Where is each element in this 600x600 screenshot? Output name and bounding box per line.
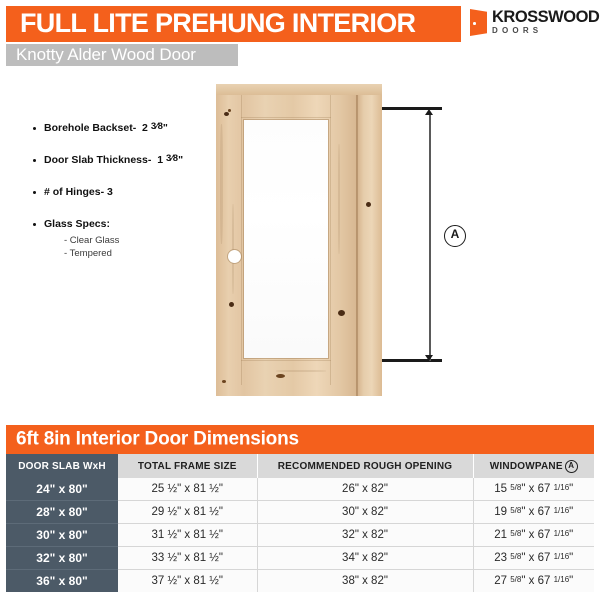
dimension-annotation: A <box>382 84 472 396</box>
pane-width-fraction: 5/8 <box>510 576 521 584</box>
borehole <box>228 250 241 263</box>
door-knob-icon <box>473 22 476 25</box>
cell-rough-opening: 32" x 82" <box>257 524 473 547</box>
spec-borehole-backset: Borehole Backset- 2 3⁄8" <box>33 122 208 135</box>
column-header-door-slab: DOOR SLAB WxH <box>6 454 118 478</box>
cell-total-frame-size: 31 ½" x 81 ½" <box>118 524 257 547</box>
wood-knot <box>338 310 345 316</box>
spec-hinge-number: 3 <box>107 186 113 198</box>
table-title: 6ft 8in Interior Door Dimensions <box>16 429 299 448</box>
extension-line-top <box>382 107 442 110</box>
table-title-bar: 6ft 8in Interior Door Dimensions <box>6 425 594 454</box>
pane-height-fraction: 1/16 <box>554 576 570 584</box>
subtitle-bar: Knotty Alder Wood Door <box>6 44 238 66</box>
pane-height-whole: 67 <box>538 483 551 495</box>
table-row: 24" x 80" 25 ½" x 81 ½" 26" x 82" 15 5/8… <box>6 478 594 501</box>
rail-edge-bottom <box>241 360 331 361</box>
cell-rough-opening: 30" x 82" <box>257 501 473 524</box>
cell-door-slab: 28" x 80" <box>6 501 118 524</box>
dimension-label-a: A <box>444 225 466 247</box>
wood-knot <box>366 202 371 207</box>
brand-logo: KROSSWOOD DOORS <box>470 8 594 42</box>
glass-sub-item-tempered: - Tempered <box>33 247 208 260</box>
cell-door-slab: 24" x 80" <box>6 478 118 501</box>
table-row: 30" x 80" 31 ½" x 81 ½" 32" x 82" 21 5/8… <box>6 524 594 547</box>
cell-door-slab: 32" x 80" <box>6 547 118 570</box>
column-header-rough-opening: RECOMMENDED ROUGH OPENING <box>257 454 473 478</box>
pane-height-whole: 67 <box>538 529 551 541</box>
wood-knot <box>222 380 226 383</box>
cell-windowpane: 23 5/8" x 67 1/16" <box>473 547 594 570</box>
cell-rough-opening: 34" x 82" <box>257 547 473 570</box>
column-header-windowpane-label: WINDOWPANE <box>490 461 563 472</box>
spec-glass-specs: Glass Specs: <box>33 218 208 231</box>
spec-label: Glass Specs: <box>44 218 110 230</box>
door-product-image <box>216 84 382 396</box>
pane-width-whole: 21 <box>494 529 507 541</box>
column-header-windowpane: WINDOWPANEA <box>473 454 594 478</box>
spec-value: 2 3⁄8" <box>139 122 168 134</box>
wood-knot <box>276 374 285 378</box>
logo-wordmark: KROSSWOOD DOORS <box>492 8 594 36</box>
wood-grain <box>220 124 223 244</box>
spec-label: Door Slab Thickness- <box>44 154 151 166</box>
dimension-line <box>429 113 431 361</box>
page-title: FULL LITE PREHUNG INTERIOR <box>20 10 415 37</box>
wood-grain <box>232 204 234 294</box>
glass-sub-item-clear: - Clear Glass <box>33 234 208 247</box>
pane-height-fraction: 1/16 <box>554 484 570 492</box>
pane-width-whole: 15 <box>494 483 507 495</box>
spec-label: Borehole Backset- <box>44 122 136 134</box>
cell-rough-opening: 26" x 82" <box>257 478 473 501</box>
stile-edge-left <box>241 95 242 385</box>
pane-width-fraction: 5/8 <box>510 484 521 492</box>
spec-value: 1 3⁄8" <box>154 154 183 166</box>
page-subtitle: Knotty Alder Wood Door <box>16 46 196 63</box>
wood-knot <box>229 302 234 307</box>
pane-width-whole: 19 <box>494 506 507 518</box>
table-row: 36" x 80" 37 ½" x 81 ½" 38" x 82" 27 5/8… <box>6 570 594 593</box>
cell-total-frame-size: 37 ½" x 81 ½" <box>118 570 257 593</box>
cell-rough-opening: 38" x 82" <box>257 570 473 593</box>
stile-edge-right <box>330 95 331 385</box>
spec-label: # of Hinges- <box>44 186 104 198</box>
cell-door-slab: 36" x 80" <box>6 570 118 593</box>
pane-height-whole: 67 <box>538 506 551 518</box>
cell-windowpane: 19 5/8" x 67 1/16" <box>473 501 594 524</box>
spec-hinge-count: # of Hinges- 3 <box>33 186 208 199</box>
glass-lite <box>244 120 328 358</box>
pane-width-fraction: 5/8 <box>510 553 521 561</box>
pane-width-fraction: 5/8 <box>510 530 521 538</box>
logo-tagline: DOORS <box>492 26 594 36</box>
wood-grain <box>338 144 340 254</box>
wood-grain <box>276 370 326 372</box>
pane-width-whole: 27 <box>494 575 507 587</box>
wood-knot <box>224 112 229 116</box>
cell-total-frame-size: 29 ½" x 81 ½" <box>118 501 257 524</box>
pane-height-fraction: 1/16 <box>554 530 570 538</box>
table-row: 28" x 80" 29 ½" x 81 ½" 30" x 82" 19 5/8… <box>6 501 594 524</box>
dimensions-table: DOOR SLAB WxH TOTAL FRAME SIZE RECOMMEND… <box>6 454 594 592</box>
page-header: FULL LITE PREHUNG INTERIOR Knotty Alder … <box>0 0 600 70</box>
door-slab <box>216 84 356 396</box>
wood-knot <box>228 109 231 112</box>
cell-total-frame-size: 33 ½" x 81 ½" <box>118 547 257 570</box>
cell-windowpane: 21 5/8" x 67 1/16" <box>473 524 594 547</box>
door-jamb <box>356 84 382 396</box>
logo-brand-name: KROSSWOOD <box>492 8 594 26</box>
pane-width-fraction: 5/8 <box>510 507 521 515</box>
cell-windowpane: 27 5/8" x 67 1/16" <box>473 570 594 593</box>
table-header-row: DOOR SLAB WxH TOTAL FRAME SIZE RECOMMEND… <box>6 454 594 478</box>
spec-door-slab-thickness: Door Slab Thickness- 1 3⁄8" <box>33 154 208 167</box>
pane-width-whole: 23 <box>494 552 507 564</box>
pane-height-fraction: 1/16 <box>554 507 570 515</box>
column-header-total-frame-size: TOTAL FRAME SIZE <box>118 454 257 478</box>
extension-line-bottom <box>382 359 442 362</box>
arrow-up-icon <box>425 109 433 115</box>
table-row: 32" x 80" 33 ½" x 81 ½" 34" x 82" 23 5/8… <box>6 547 594 570</box>
arrow-down-icon <box>425 355 433 361</box>
head-jamb <box>216 84 382 95</box>
pane-height-fraction: 1/16 <box>554 553 570 561</box>
cell-windowpane: 15 5/8" x 67 1/16" <box>473 478 594 501</box>
pane-height-whole: 67 <box>538 552 551 564</box>
windowpane-marker-a: A <box>565 460 578 473</box>
door-icon <box>470 9 487 36</box>
specifications-list: Borehole Backset- 2 3⁄8" Door Slab Thick… <box>33 122 208 260</box>
cell-door-slab: 30" x 80" <box>6 524 118 547</box>
pane-height-whole: 67 <box>538 575 551 587</box>
cell-total-frame-size: 25 ½" x 81 ½" <box>118 478 257 501</box>
rail-edge-top <box>241 117 331 118</box>
jamb-edge <box>356 84 358 396</box>
title-bar: FULL LITE PREHUNG INTERIOR <box>6 6 461 42</box>
